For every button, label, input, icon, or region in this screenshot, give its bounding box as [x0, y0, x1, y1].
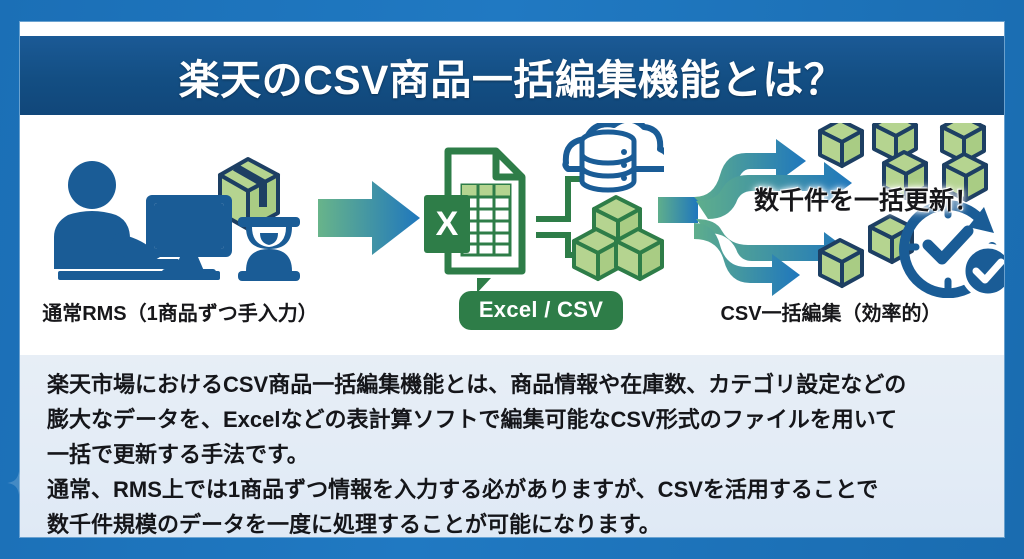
package-box-stack-icon: [574, 197, 662, 279]
body-text-block: 楽天市場におけるCSV商品一括編集機能とは、商品情報や在庫数、カテゴリ設定などの…: [20, 355, 1004, 537]
left-panel-label: 通常RMS（1商品ずつ手入力）: [20, 297, 340, 326]
panel-center: X: [416, 115, 666, 355]
excel-spreadsheet-icon: X: [424, 151, 522, 271]
callout-text: 数千件を一括更新！: [754, 181, 979, 217]
panel-left: 通常RMS（1商品ずつ手入力）: [20, 115, 340, 355]
title-band: 楽天のCSV商品一括編集機能とは？: [20, 36, 1004, 115]
flow-arrow: [310, 115, 430, 355]
page-title: 楽天のCSV商品一括編集機能とは？: [179, 46, 846, 106]
cloud-database-icon: [565, 123, 664, 190]
excel-letter: X: [436, 205, 459, 243]
center-illustration: X: [416, 123, 666, 298]
left-illustration: [20, 123, 340, 298]
excel-csv-badge: Excel / CSV: [459, 291, 623, 330]
diagram-area: 通常RMS（1商品ずつ手入力）: [20, 115, 1004, 355]
body-line: 膨大なデータを、Excelなどの表計算ソフトで編集可能なCSV形式のファイルを用…: [47, 403, 982, 436]
body-line: 通常、RMS上では1商品ずつ情報を入力する必がありますが、CSVを活用することで: [47, 473, 982, 506]
right-arrow-icon: [310, 173, 430, 263]
clock-check-icon: [904, 205, 1004, 296]
infographic-frame: 楽天のCSV商品一括編集機能とは？: [0, 0, 1024, 559]
hourglass-icon: [238, 217, 300, 281]
body-line: 数千件規模のデータを一度に処理することが可能になります。: [47, 508, 982, 541]
panel-right: 数千件を一括更新！ CSV一括編集（効率的）: [658, 115, 1004, 355]
body-line: 楽天市場におけるCSV商品一括編集機能とは、商品情報や在庫数、カテゴリ設定などの: [47, 368, 982, 401]
body-line: 一括で更新する手法です。: [47, 438, 982, 471]
right-panel-label: CSV一括編集（効率的）: [658, 297, 1004, 326]
